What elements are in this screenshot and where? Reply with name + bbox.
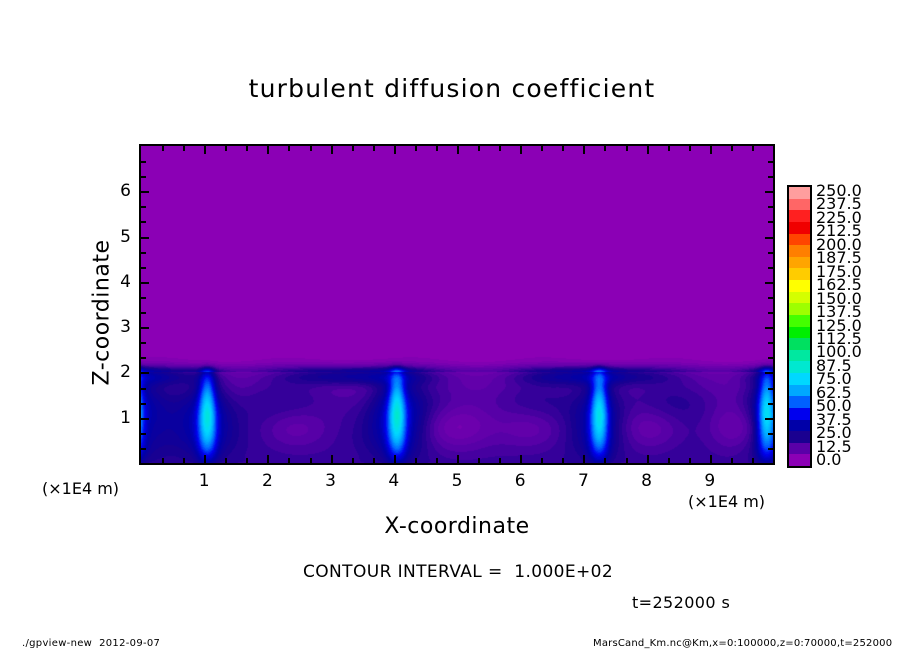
x-minor-tick-top — [499, 146, 501, 151]
x-minor-tick-top — [225, 146, 227, 151]
x-tick-label: 5 — [442, 471, 472, 491]
x-axis-unit-left: (×1E4 m) — [42, 479, 119, 498]
colorbar-band — [789, 327, 810, 339]
colorbar-band — [789, 222, 810, 234]
colorbar-band — [789, 454, 810, 466]
x-tick-label: 7 — [568, 471, 598, 491]
x-minor-tick-top — [541, 146, 543, 151]
y-major-tick-right — [765, 282, 773, 284]
x-minor-tick-top — [183, 146, 185, 151]
y-minor-tick-right — [768, 403, 773, 405]
colorbar-band — [789, 350, 810, 362]
x-minor-tick-top — [689, 146, 691, 151]
x-major-tick-top — [583, 146, 585, 154]
x-tick-label: 1 — [189, 471, 219, 491]
x-minor-tick-top — [373, 146, 375, 151]
colorbar-band — [789, 315, 810, 327]
x-major-tick-top — [647, 146, 649, 154]
x-minor-tick — [668, 458, 670, 463]
x-major-tick-top — [457, 146, 459, 154]
y-major-tick-right — [765, 372, 773, 374]
y-minor-tick — [141, 206, 146, 208]
x-major-tick — [583, 455, 585, 463]
colorbar-band — [789, 280, 810, 292]
y-major-tick — [141, 327, 149, 329]
x-minor-tick-top — [668, 146, 670, 151]
y-minor-tick-right — [768, 448, 773, 450]
x-major-tick — [267, 455, 269, 463]
x-minor-tick-top — [604, 146, 606, 151]
y-minor-tick — [141, 297, 146, 299]
contour-plot-area — [139, 144, 775, 465]
x-minor-tick-top — [478, 146, 480, 151]
y-minor-tick — [141, 433, 146, 435]
x-axis-unit-right: (×1E4 m) — [688, 492, 765, 511]
y-major-tick — [141, 418, 149, 420]
x-minor-tick — [288, 458, 290, 463]
y-minor-tick — [141, 267, 146, 269]
colorbar-band — [789, 234, 810, 246]
colorbar — [787, 185, 812, 468]
y-minor-tick — [141, 342, 146, 344]
x-tick-label: 4 — [379, 471, 409, 491]
contour-field-canvas — [141, 146, 773, 463]
contour-interval-label: CONTOUR INTERVAL = 1.000E+02 — [303, 562, 613, 582]
y-minor-tick-right — [768, 433, 773, 435]
x-major-tick-top — [267, 146, 269, 154]
x-minor-tick — [415, 458, 417, 463]
y-minor-tick-right — [768, 297, 773, 299]
y-minor-tick-right — [768, 221, 773, 223]
y-minor-tick — [141, 403, 146, 405]
x-minor-tick — [352, 458, 354, 463]
x-major-tick — [204, 455, 206, 463]
x-major-tick — [331, 455, 333, 463]
y-major-tick-right — [765, 418, 773, 420]
colorbar-band — [789, 431, 810, 443]
x-minor-tick — [436, 458, 438, 463]
colorbar-band — [789, 268, 810, 280]
x-major-tick-top — [710, 146, 712, 154]
x-minor-tick — [689, 458, 691, 463]
x-major-tick-top — [331, 146, 333, 154]
x-major-tick-top — [204, 146, 206, 154]
x-major-tick-top — [394, 146, 396, 154]
x-minor-tick-top — [752, 146, 754, 151]
x-minor-tick — [183, 458, 185, 463]
x-major-tick — [520, 455, 522, 463]
colorbar-band — [789, 303, 810, 315]
x-minor-tick-top — [352, 146, 354, 151]
x-tick-label: 6 — [505, 471, 535, 491]
colorbar-band — [789, 245, 810, 257]
x-minor-tick-top — [246, 146, 248, 151]
x-minor-tick-top — [415, 146, 417, 151]
x-minor-tick — [478, 458, 480, 463]
x-tick-label: 2 — [252, 471, 282, 491]
x-major-tick-top — [520, 146, 522, 154]
colorbar-band — [789, 361, 810, 373]
x-minor-tick — [225, 458, 227, 463]
y-minor-tick-right — [768, 161, 773, 163]
colorbar-band — [789, 187, 810, 199]
footer-source-label: MarsCand_Km.nc@Km,x=0:100000,z=0:70000,t… — [593, 638, 892, 649]
x-minor-tick — [246, 458, 248, 463]
x-tick-label: 3 — [316, 471, 346, 491]
colorbar-band — [789, 210, 810, 222]
y-minor-tick-right — [768, 252, 773, 254]
x-minor-tick — [604, 458, 606, 463]
y-minor-tick — [141, 448, 146, 450]
y-major-tick — [141, 191, 149, 193]
x-minor-tick — [626, 458, 628, 463]
y-major-tick-right — [765, 191, 773, 193]
y-minor-tick-right — [768, 267, 773, 269]
x-axis-title: X-coordinate — [139, 514, 775, 539]
y-minor-tick-right — [768, 357, 773, 359]
x-minor-tick — [373, 458, 375, 463]
colorbar-band — [789, 420, 810, 432]
colorbar-band — [789, 408, 810, 420]
colorbar-band — [789, 338, 810, 350]
x-minor-tick-top — [162, 146, 164, 151]
x-minor-tick — [731, 458, 733, 463]
y-major-tick — [141, 372, 149, 374]
y-axis-title: Z-coordinate — [90, 193, 115, 433]
x-major-tick — [394, 455, 396, 463]
colorbar-band — [789, 292, 810, 304]
timestamp-label: t=252000 s — [632, 593, 730, 612]
x-minor-tick — [499, 458, 501, 463]
y-major-tick-right — [765, 237, 773, 239]
y-minor-tick — [141, 388, 146, 390]
y-major-tick — [141, 282, 149, 284]
x-major-tick — [457, 455, 459, 463]
y-minor-tick — [141, 312, 146, 314]
x-minor-tick-top — [731, 146, 733, 151]
x-minor-tick — [162, 458, 164, 463]
colorbar-tick-label: 0.0 — [816, 452, 841, 468]
y-minor-tick-right — [768, 312, 773, 314]
colorbar-band — [789, 443, 810, 455]
colorbar-tick-labels: 250.0237.5225.0212.5200.0187.5175.0162.5… — [816, 185, 896, 468]
y-major-tick — [141, 237, 149, 239]
y-minor-tick — [141, 176, 146, 178]
x-minor-tick-top — [626, 146, 628, 151]
x-minor-tick — [562, 458, 564, 463]
x-minor-tick-top — [288, 146, 290, 151]
x-minor-tick — [310, 458, 312, 463]
y-minor-tick-right — [768, 176, 773, 178]
colorbar-band — [789, 385, 810, 397]
x-minor-tick-top — [310, 146, 312, 151]
x-major-tick — [710, 455, 712, 463]
y-minor-tick-right — [768, 388, 773, 390]
colorbar-band — [789, 396, 810, 408]
x-minor-tick-top — [562, 146, 564, 151]
y-minor-tick — [141, 252, 146, 254]
y-minor-tick-right — [768, 206, 773, 208]
footer-command-label: ./gpview-new 2012-09-07 — [22, 638, 160, 649]
y-major-tick-right — [765, 327, 773, 329]
x-tick-label: 9 — [695, 471, 725, 491]
colorbar-band — [789, 199, 810, 211]
x-tick-label: 8 — [632, 471, 662, 491]
x-minor-tick — [752, 458, 754, 463]
y-minor-tick — [141, 357, 146, 359]
x-minor-tick-top — [436, 146, 438, 151]
y-minor-tick — [141, 161, 146, 163]
y-minor-tick-right — [768, 342, 773, 344]
x-major-tick — [647, 455, 649, 463]
y-minor-tick — [141, 221, 146, 223]
colorbar-band — [789, 373, 810, 385]
page-title: turbulent diffusion coefficient — [0, 74, 904, 103]
x-minor-tick — [541, 458, 543, 463]
colorbar-band — [789, 257, 810, 269]
